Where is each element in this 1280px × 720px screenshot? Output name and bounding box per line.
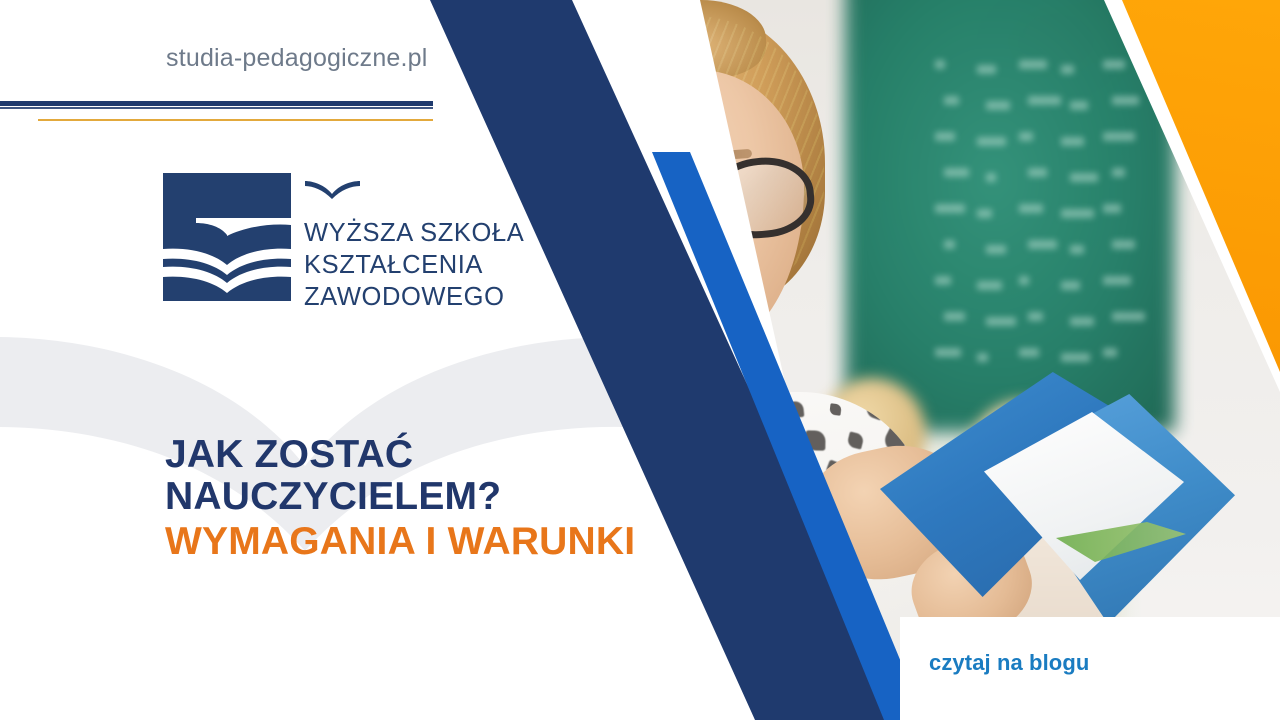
university-name-line2: KSZTAŁCENIA xyxy=(304,249,524,281)
university-logo[interactable]: WYŻSZA SZKOŁA KSZTAŁCENIA ZAWODOWEGO xyxy=(163,173,523,305)
divider-gold xyxy=(38,119,433,121)
headline: JAK ZOSTAĆ NAUCZYCIELEM? WYMAGANIA I WAR… xyxy=(165,434,635,564)
university-name-line1: WYŻSZA SZKOŁA xyxy=(304,217,524,249)
headline-line2: NAUCZYCIELEM? xyxy=(165,476,635,518)
divider-navy xyxy=(0,101,433,106)
open-book-logo-icon xyxy=(163,173,291,301)
university-name: WYŻSZA SZKOŁA KSZTAŁCENIA ZAWODOWEGO xyxy=(304,217,524,313)
headline-line1: JAK ZOSTAĆ xyxy=(165,434,635,476)
site-url[interactable]: studia-pedagogiczne.pl xyxy=(166,44,428,73)
read-on-blog-link[interactable]: czytaj na blogu xyxy=(929,650,1089,676)
bird-chevron-icon xyxy=(303,178,363,200)
open-blue-book xyxy=(880,372,1210,632)
banner-canvas: studia-pedagogiczne.pl WYŻSZA SZKOŁA KSZ… xyxy=(0,0,1280,720)
cta-panel: czytaj na blogu xyxy=(900,617,1280,720)
blouse-button xyxy=(671,560,682,571)
eyeglass-bridge xyxy=(698,171,721,180)
university-name-line3: ZAWODOWEGO xyxy=(304,281,524,313)
headline-subtitle: WYMAGANIA I WARUNKI xyxy=(165,520,635,564)
